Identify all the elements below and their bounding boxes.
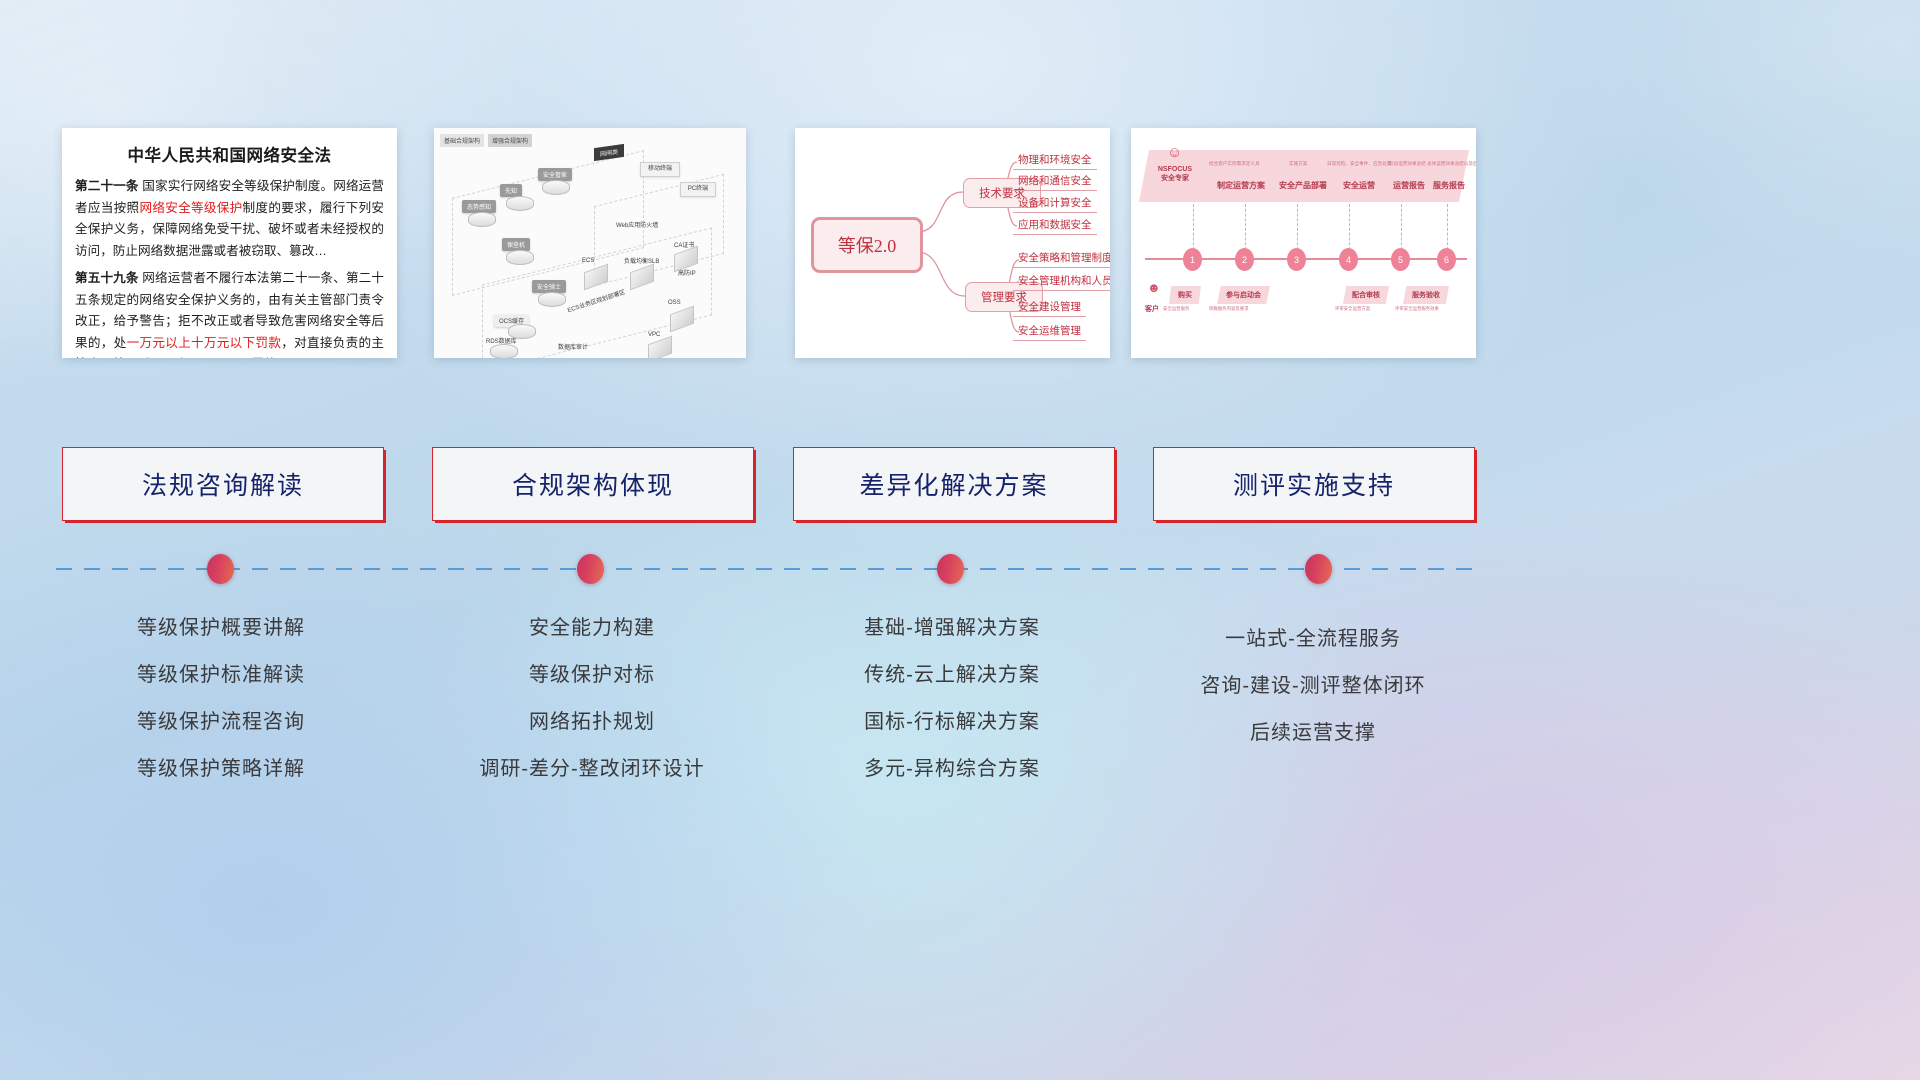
timeline-dot-3[interactable] <box>937 554 964 584</box>
article-21-highlight: 网络安全等级保护 <box>139 201 242 215</box>
law-screenshot-card: 中华人民共和国网络安全法 第二十一条 国家实行网络安全等级保护制度。网络运营者应… <box>62 128 397 358</box>
customer-tag-sub-4: 评审安全运营服务效果 <box>1395 306 1439 312</box>
article-59-highlight-2: 五千元以上五万元以下罚款。 <box>125 357 289 358</box>
chip-bastion-host: 保垒机 <box>502 238 530 251</box>
header-sub-4: 阶段运营效果总结 <box>1389 161 1426 167</box>
mindmap-leaf-operation: 安全运维管理 <box>1013 323 1086 341</box>
label-waf: Web应用防火墙 <box>616 220 658 229</box>
connector-4 <box>1349 204 1351 250</box>
cyl-3 <box>468 212 496 227</box>
mindmap-leaf-policy: 安全策略和管理制度 <box>1013 250 1110 268</box>
slide-stage: 中华人民共和国网络安全法 第二十一条 国家实行网络安全等级保护制度。网络运营者应… <box>0 0 1920 1080</box>
list-item: 国标-行标解决方案 <box>772 705 1132 734</box>
cyl-rds <box>490 344 518 358</box>
list-item: 等级保护策略详解 <box>41 752 401 781</box>
list-item: 等级保护对标 <box>412 658 772 687</box>
header-main-1: 制定运营方案 <box>1217 180 1265 191</box>
section-items-2: 安全能力构建 等级保护对标 网络拓扑规划 调研-差分-整改闭环设计 <box>412 611 772 799</box>
header-main-4: 运营报告 <box>1393 180 1425 191</box>
mindmap-screenshot-card: 等保2.0 技术要求 物理和环境安全 网络和通信安全 设备和计算安全 应用和数据… <box>795 128 1110 358</box>
customer-tag-4: 服务验收 <box>1403 286 1449 304</box>
mindmap-leaf-physical: 物理和环境安全 <box>1013 152 1097 170</box>
section-title-box-4[interactable]: 测评实施支持 <box>1153 447 1475 521</box>
cyl-5 <box>538 292 566 307</box>
nsfocus-timeline: ☺ NSFOCUS 安全专家 结合客户实际需求定义具 制定运营方案 实施方案 安… <box>1131 128 1476 358</box>
cyl-2 <box>506 196 534 211</box>
timeline-dot-4[interactable] <box>1305 554 1332 584</box>
customer-tag-sub-2: 明确服务内容及要求 <box>1209 306 1249 312</box>
dashed-timeline <box>56 568 1480 570</box>
customer-tag-3: 配合审核 <box>1343 286 1389 304</box>
tab-enhanced-architecture: 增强合规架构 <box>488 134 532 147</box>
section-items-4: 一站式-全流程服务 咨询-建设-测评整体闭环 后续运营支撑 <box>1133 622 1493 763</box>
customer-label: 客户 <box>1145 304 1159 314</box>
list-item: 基础-增强解决方案 <box>772 611 1132 640</box>
section-title-3: 差异化解决方案 <box>859 466 1048 502</box>
customer-tag-sub-3: 评审安全运营方案 <box>1335 306 1370 312</box>
label-db-audit: 数据库审计 <box>558 342 588 351</box>
list-item: 等级保护标准解读 <box>41 658 401 687</box>
article-21-label: 第二十一条 <box>75 179 139 193</box>
mindmap-leaf-application: 应用和数据安全 <box>1013 217 1097 235</box>
customer-icon: ☻ <box>1147 280 1161 295</box>
law-article-21: 第二十一条 国家实行网络安全等级保护制度。网络运营者应当按照网络安全等级保护制度… <box>75 176 384 262</box>
step-number-3: 3 <box>1287 248 1306 271</box>
step-number-2: 2 <box>1235 248 1254 271</box>
header-sub-2: 实施方案 <box>1289 161 1307 167</box>
timeline-dot-1[interactable] <box>207 554 234 584</box>
architecture-diagram: 基础合规架构 增强合规架构 网闸类 安全管家 先知 态势感知 保垒机 安全骑士 … <box>434 128 746 358</box>
law-title: 中华人民共和国网络安全法 <box>75 142 384 166</box>
connector-3 <box>1297 204 1299 250</box>
section-title-box-2[interactable]: 合规架构体现 <box>432 447 754 521</box>
step-number-6: 6 <box>1437 248 1456 271</box>
label-oss: OSS <box>668 300 681 306</box>
node-mobile: 移动终端 <box>640 162 680 177</box>
chip-situation-awareness: 态势感知 <box>462 200 496 213</box>
list-item: 等级保护概要讲解 <box>41 611 401 640</box>
customer-tag-1: 购买 <box>1169 286 1201 304</box>
list-item: 调研-差分-整改闭环设计 <box>412 752 772 781</box>
step-number-4: 4 <box>1339 248 1358 271</box>
list-item: 网络拓扑规划 <box>412 705 772 734</box>
nsfocus-brand-name: NSFOCUS <box>1151 166 1199 175</box>
cyl-1 <box>542 180 570 195</box>
section-items-1: 等级保护概要讲解 等级保护标准解读 等级保护流程咨询 等级保护策略详解 <box>41 611 401 799</box>
mindmap-leaf-network: 网络和通信安全 <box>1013 173 1097 191</box>
section-items-3: 基础-增强解决方案 传统-云上解决方案 国标-行标解决方案 多元-异构综合方案 <box>772 611 1132 799</box>
header-sub-1: 结合客户实际需求定义具 <box>1209 161 1260 167</box>
law-article-59: 第五十九条 网络运营者不履行本法第二十一条、第二十五条规定的网络安全保护义务的，… <box>75 268 384 358</box>
customer-tag-sub-1: 安全运营服务 <box>1163 306 1189 312</box>
list-item: 传统-云上解决方案 <box>772 658 1132 687</box>
cube-vpc <box>648 336 672 358</box>
label-vpc: VPC <box>648 332 660 338</box>
label-ecs: ECS <box>582 258 594 264</box>
section-title-box-1[interactable]: 法规咨询解读 <box>62 447 384 521</box>
article-59-label: 第五十九条 <box>75 271 139 285</box>
list-item: 一站式-全流程服务 <box>1133 622 1493 651</box>
header-main-5: 服务报告 <box>1433 180 1465 191</box>
list-item: 安全能力构建 <box>412 611 772 640</box>
chip-security-knight: 安全骑士 <box>532 280 566 293</box>
step-number-1: 1 <box>1183 248 1202 271</box>
connector-1 <box>1193 204 1195 250</box>
nsfocus-screenshot-card: ☺ NSFOCUS 安全专家 结合客户实际需求定义具 制定运营方案 实施方案 安… <box>1131 128 1476 358</box>
list-item: 咨询-建设-测评整体闭环 <box>1133 669 1493 698</box>
label-gaofangip: 高防IP <box>678 268 696 277</box>
header-main-3: 安全运营 <box>1343 180 1375 191</box>
header-main-2: 安全产品部署 <box>1279 180 1327 191</box>
connector-2 <box>1245 204 1247 250</box>
mindmap-leaf-device: 设备和计算安全 <box>1013 195 1097 213</box>
section-title-box-3[interactable]: 差异化解决方案 <box>793 447 1115 521</box>
header-sub-3: 日常巡检、安全事件、应急处置 <box>1327 161 1391 167</box>
section-title-1: 法规咨询解读 <box>142 466 304 502</box>
expert-icon: ☺ <box>1167 144 1182 161</box>
customer-tag-2: 参与启动会 <box>1217 286 1270 304</box>
step-number-5: 5 <box>1391 248 1410 271</box>
nsfocus-brand: NSFOCUS 安全专家 <box>1151 166 1199 184</box>
node-pc: PC终端 <box>680 182 716 197</box>
list-item: 等级保护流程咨询 <box>41 705 401 734</box>
mindmap-leaf-organization: 安全管理机构和人员 <box>1013 273 1110 291</box>
label-slb: 负载均衡SLB <box>624 256 659 265</box>
header-sub-5: 总体运营效果总结以及后续运营方向 <box>1427 161 1476 167</box>
connector-5 <box>1401 204 1403 250</box>
article-59-highlight-1: 一万元以上十万元以下罚款 <box>127 336 282 350</box>
timeline-dot-2[interactable] <box>577 554 604 584</box>
list-item: 后续运营支撑 <box>1133 716 1493 745</box>
mindmap-root: 等保2.0 <box>811 217 923 273</box>
tab-basic-architecture: 基础合规架构 <box>440 134 484 147</box>
section-title-2: 合规架构体现 <box>512 466 674 502</box>
mindmap-diagram: 等保2.0 技术要求 物理和环境安全 网络和通信安全 设备和计算安全 应用和数据… <box>795 128 1110 358</box>
architecture-screenshot-card: 基础合规架构 增强合规架构 网闸类 安全管家 先知 态势感知 保垒机 安全骑士 … <box>434 128 746 358</box>
connector-6 <box>1447 204 1449 250</box>
cyl-4 <box>506 250 534 265</box>
law-content: 中华人民共和国网络安全法 第二十一条 国家实行网络安全等级保护制度。网络运营者应… <box>62 128 397 358</box>
list-item: 多元-异构综合方案 <box>772 752 1132 781</box>
mindmap-leaf-construction: 安全建设管理 <box>1013 299 1086 317</box>
nsfocus-brand-sub: 安全专家 <box>1151 175 1199 184</box>
section-title-4: 测评实施支持 <box>1233 466 1395 502</box>
